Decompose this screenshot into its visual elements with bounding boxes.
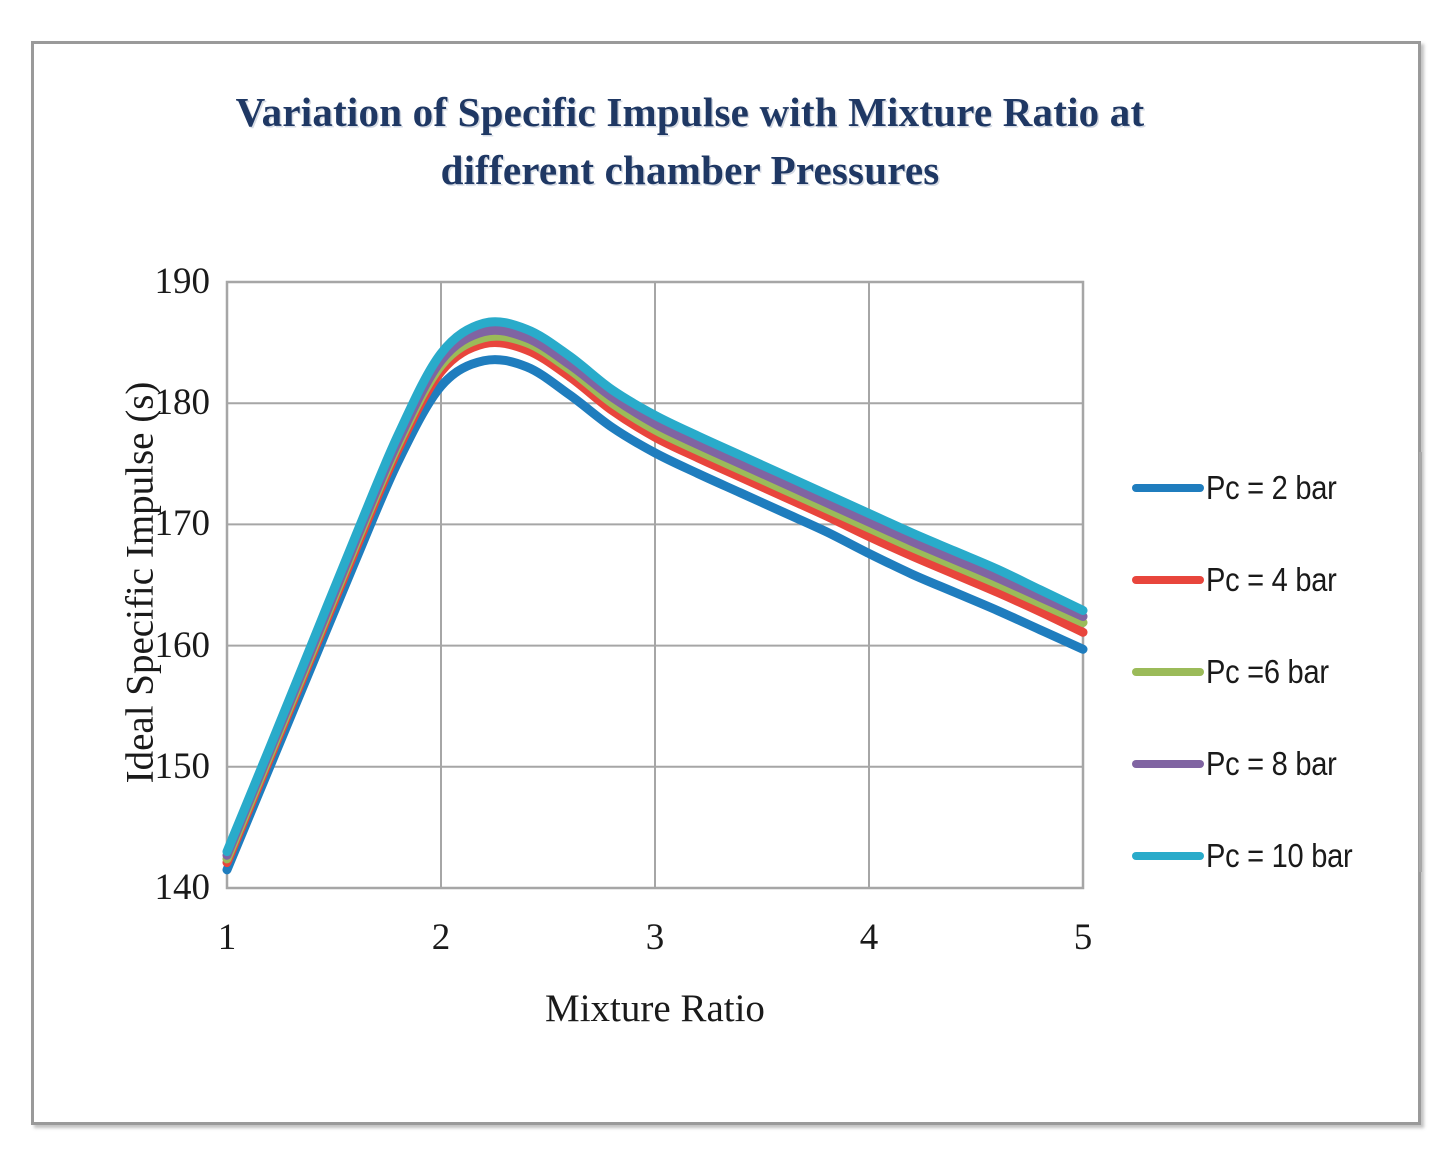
legend-item[interactable]: Pc = 2 bar (1132, 466, 1354, 510)
y-axis-tick-label: 190 (90, 263, 210, 300)
legend-color-swatch (1132, 484, 1204, 492)
legend-color-swatch (1132, 668, 1204, 676)
x-axis-tick-label: 5 (1043, 919, 1123, 956)
y-axis-tick-label: 180 (90, 384, 210, 421)
legend-color-swatch (1132, 852, 1204, 860)
y-axis-tick-label: 170 (90, 505, 210, 542)
y-axis-tick-label: 160 (90, 627, 210, 664)
legend-item-label: Pc = 8 bar (1206, 745, 1337, 783)
legend-item-label: Pc = 2 bar (1206, 469, 1337, 507)
legend-item-label: Pc = 4 bar (1206, 561, 1337, 599)
legend-item-label: Pc = 10 bar (1206, 837, 1352, 875)
x-axis-tick-label: 1 (187, 919, 267, 956)
x-axis-tick-label: 4 (829, 919, 909, 956)
x-axis-tick-label: 3 (615, 919, 695, 956)
x-axis-tick-label: 2 (401, 919, 481, 956)
gridlines (227, 282, 1083, 888)
y-axis-tick-label: 140 (90, 869, 210, 906)
legend-color-swatch (1132, 760, 1204, 768)
legend-item[interactable]: Pc = 8 bar (1132, 742, 1354, 786)
legend-item-label: Pc =6 bar (1206, 653, 1329, 691)
y-axis-tick-label: 150 (90, 748, 210, 785)
legend-divider (1419, 452, 1422, 872)
legend-item[interactable]: Pc = 10 bar (1132, 834, 1372, 878)
y-axis-title: Ideal Specific Impulse (s) (118, 263, 163, 903)
chart-figure: Variation of Specific Impulse with Mixtu… (0, 0, 1456, 1170)
legend-color-swatch (1132, 576, 1204, 584)
legend-item[interactable]: Pc = 4 bar (1132, 558, 1354, 602)
x-axis-title: Mixture Ratio (227, 986, 1083, 1031)
legend-item[interactable]: Pc =6 bar (1132, 650, 1345, 694)
